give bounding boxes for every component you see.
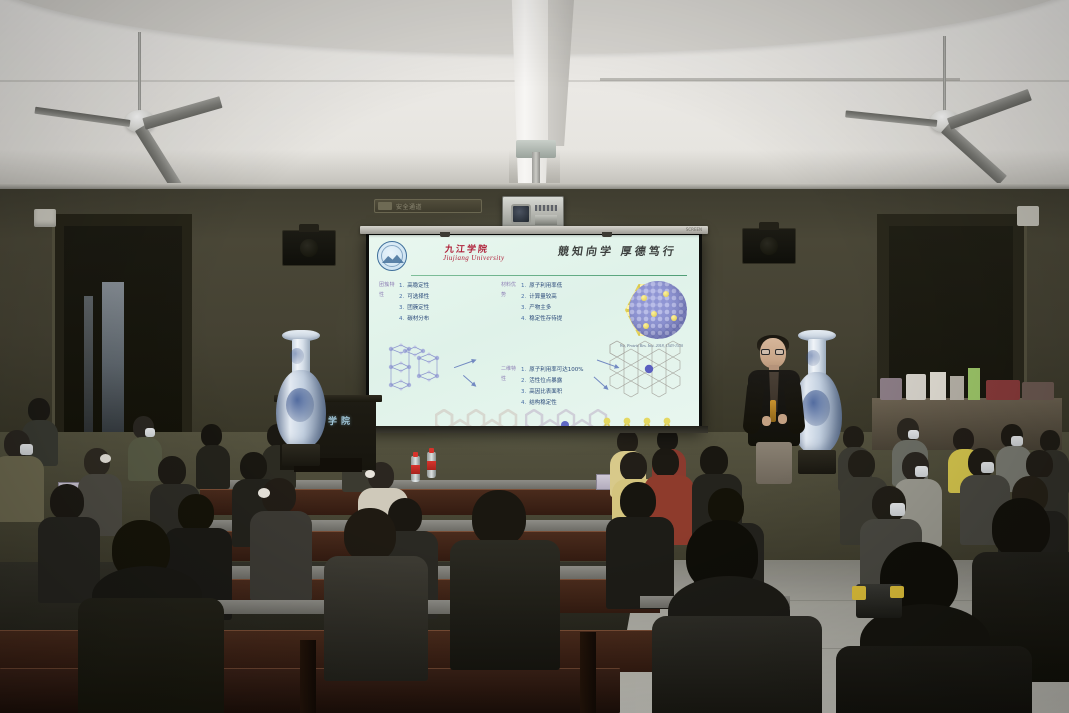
glasses-lens xyxy=(775,349,784,355)
person-head xyxy=(700,446,728,476)
bullet-number: 4. xyxy=(521,398,526,409)
slide-header: 九江学院 Jiujiang University 競知向学 厚德笃行 xyxy=(375,239,693,271)
table-item-box xyxy=(1022,382,1054,400)
list-item: 3.团簇定性 xyxy=(399,303,491,314)
university-logo-icon xyxy=(377,241,407,271)
university-motto: 競知向学 厚德笃行 xyxy=(557,243,678,259)
face-mask xyxy=(981,462,994,473)
person-torso xyxy=(78,598,224,713)
list-item: 2.计算量较高 xyxy=(521,292,617,303)
vase-decoration xyxy=(286,388,314,422)
bottle-label xyxy=(427,461,436,470)
bullet-text: 高稳定性 xyxy=(407,281,429,292)
exit-sign-icon xyxy=(378,202,392,210)
person-head xyxy=(652,448,679,477)
projection-screen: 九江学院 Jiujiang University 競知向学 厚德笃行 团簇特性 … xyxy=(366,232,702,430)
bullet-number: 4. xyxy=(521,314,526,325)
vase-decoration xyxy=(290,348,304,364)
table-item-container xyxy=(930,372,946,400)
bullet-number: 2. xyxy=(521,376,526,387)
presenter-trousers xyxy=(756,442,792,484)
person-head xyxy=(472,490,526,546)
bullet-list-b: 1.原子利用率低 2.计算量较高 3.产物主多 4.稳定性存待提 xyxy=(521,281,617,325)
porcelain-vase-left xyxy=(274,330,330,470)
vase-stand xyxy=(798,450,836,474)
person-head xyxy=(953,428,974,451)
bag-accent xyxy=(890,586,904,598)
hair-tie xyxy=(100,454,111,463)
wall-speaker-left xyxy=(282,230,336,266)
person-head xyxy=(617,430,638,453)
speaker-cone xyxy=(300,239,318,257)
doped-lattice-diagram xyxy=(609,339,687,401)
vase-stand xyxy=(282,444,320,466)
list-item: 2.可选择性 xyxy=(399,292,491,303)
list-item: 4.稳定性存待提 xyxy=(521,314,617,325)
bullet-text: 产物主多 xyxy=(529,303,551,314)
left-door-glass-panel xyxy=(102,282,124,432)
lecture-hall-scene: 安全通道 SCREEN 九江学院 Jiujiang University 競知向… xyxy=(0,0,1069,713)
list-item: 1.高稳定性 xyxy=(399,281,491,292)
screen-brand-label: SCREEN xyxy=(686,227,702,232)
dopant-atom xyxy=(663,291,669,297)
bench-leg xyxy=(580,632,596,713)
list-item: 4.碳材分布 xyxy=(399,314,491,325)
bottle-label xyxy=(411,465,420,474)
presentation-slide: 九江学院 Jiujiang University 競知向学 厚德笃行 团簇特性 … xyxy=(369,235,699,427)
emergency-exit-sign: 安全通道 xyxy=(374,199,482,213)
slide-body: 团簇特性 1.高稳定性 2.可选择性 3.团簇定性 4.碳材分布 材料优势 1.… xyxy=(375,277,693,423)
list-item: 1.原子利用率可达100% xyxy=(521,365,621,376)
person-torso xyxy=(450,540,560,670)
person-head xyxy=(992,498,1050,558)
bullet-text: 高因比表面积 xyxy=(529,387,562,398)
wall-speaker-right xyxy=(742,228,796,264)
person-head xyxy=(240,452,267,481)
fan-downrod xyxy=(138,32,141,114)
projector-lens xyxy=(511,204,531,224)
person-head xyxy=(620,452,647,481)
person-head xyxy=(843,426,864,449)
projector-vent xyxy=(535,205,557,211)
bullet-text: 结构稳定性 xyxy=(529,398,557,409)
bench-leg xyxy=(300,640,316,713)
list-item: 1.原子利用率低 xyxy=(521,281,617,292)
bullet-number: 2. xyxy=(521,292,526,303)
person-head xyxy=(1040,430,1060,452)
person-torso xyxy=(250,511,312,601)
screen-clip xyxy=(602,232,612,237)
person-torso xyxy=(836,646,1032,713)
glasses-lens xyxy=(761,349,770,355)
exit-sign-label: 安全通道 xyxy=(396,202,422,211)
projection-screen-surface: 九江学院 Jiujiang University 競知向学 厚德笃行 团簇特性 … xyxy=(369,235,699,427)
table-item-container xyxy=(906,374,926,400)
wall-cornice xyxy=(0,183,1069,189)
speaker-cone xyxy=(760,237,778,255)
person-torso xyxy=(38,517,100,603)
table-item-cloth xyxy=(986,380,1020,400)
person-torso xyxy=(196,445,230,489)
bottle-cap xyxy=(429,448,434,453)
bullet-number: 2. xyxy=(399,292,404,303)
person-head xyxy=(178,494,214,532)
screen-clip xyxy=(440,232,450,237)
bullet-text: 原子利用率低 xyxy=(529,281,562,292)
water-bottle xyxy=(427,452,436,478)
person-head xyxy=(344,508,396,562)
bullet-text: 可选择性 xyxy=(407,292,429,303)
bullet-number: 3. xyxy=(521,387,526,398)
dopant-atom xyxy=(671,315,677,321)
left-door-glass-panel xyxy=(84,296,93,432)
layered-sulfide-diagram xyxy=(595,407,687,427)
university-name-en: Jiujiang University xyxy=(443,254,504,262)
bullet-text: 稳定性存待提 xyxy=(529,314,562,325)
table-item-box xyxy=(880,378,902,400)
face-mask xyxy=(20,444,33,455)
alloy-nanoparticle-sphere-figure xyxy=(629,281,687,339)
speaker-bracket xyxy=(299,224,319,232)
bullet-text: 计算量较高 xyxy=(529,292,557,303)
bullet-list-c: 1.原子利用率可达100% 2.活性位点暴露 3.高因比表面积 4.结构稳定性 xyxy=(521,365,621,409)
bullet-number: 1. xyxy=(521,281,526,292)
person-head xyxy=(50,484,84,520)
bullet-list-a: 1.高稳定性 2.可选择性 3.团簇定性 4.碳材分布 xyxy=(399,281,491,325)
person-head xyxy=(28,398,50,422)
person-head xyxy=(620,482,656,520)
person-head xyxy=(201,424,222,447)
bullet-text: 碳材分布 xyxy=(407,314,429,325)
hair-tie xyxy=(365,470,375,478)
wall-junction-box xyxy=(1017,206,1039,226)
bullet-text: 活性位点暴露 xyxy=(529,376,562,387)
face-mask xyxy=(1011,436,1023,446)
glasses-icon xyxy=(761,349,785,355)
bullet-number: 4. xyxy=(399,314,404,325)
list-item: 3.产物主多 xyxy=(521,303,617,314)
table-item-container xyxy=(950,376,964,400)
bottle-cap xyxy=(413,452,418,457)
projection-screen-bottom-bar xyxy=(360,426,708,433)
fan-downrod xyxy=(943,36,946,114)
water-bottle xyxy=(411,456,420,482)
bullet-number: 1. xyxy=(521,365,526,376)
person-torso xyxy=(324,556,428,681)
face-mask xyxy=(890,503,905,516)
bag-accent xyxy=(852,586,866,600)
person-head xyxy=(848,450,875,479)
person-head xyxy=(1026,450,1053,479)
mof-framework-diagram xyxy=(381,339,461,403)
presenter-hand xyxy=(762,416,771,426)
person-torso xyxy=(128,437,162,481)
group-c-label: 二维特性 xyxy=(501,365,517,384)
projector-panel xyxy=(535,215,557,225)
ceiling-wire xyxy=(600,78,960,81)
face-mask xyxy=(908,430,919,439)
person-torso xyxy=(0,456,44,522)
bullet-text: 原子利用率可达100% xyxy=(529,365,583,376)
speaker-bracket xyxy=(759,222,779,230)
bullet-text: 团簇定性 xyxy=(407,303,429,314)
dopant-site xyxy=(645,365,653,373)
dopant-atom xyxy=(641,295,647,301)
dopant-atom xyxy=(643,323,649,329)
person-head xyxy=(158,456,186,486)
projection-screen-housing: SCREEN xyxy=(360,226,708,234)
presenter-hand xyxy=(778,414,787,424)
vase-decoration xyxy=(802,390,830,426)
bullet-number: 3. xyxy=(399,303,404,314)
list-item: 3.高因比表面积 xyxy=(521,387,621,398)
wall-junction-box xyxy=(34,209,56,227)
table-item-bottle xyxy=(968,368,980,400)
hair-tie xyxy=(258,488,270,498)
bullet-number: 3. xyxy=(521,303,526,314)
group-a-label: 团簇特性 xyxy=(379,281,397,300)
vase-decoration xyxy=(806,350,820,366)
face-mask xyxy=(915,466,928,477)
graphene-sheet-diagram xyxy=(435,409,521,427)
group-b-label: 材料优势 xyxy=(501,281,517,300)
face-mask xyxy=(145,428,155,437)
bullet-number: 1. xyxy=(399,281,404,292)
dopant-atom xyxy=(651,311,657,317)
list-item: 2.活性位点暴露 xyxy=(521,376,621,387)
person-torso xyxy=(652,616,822,713)
